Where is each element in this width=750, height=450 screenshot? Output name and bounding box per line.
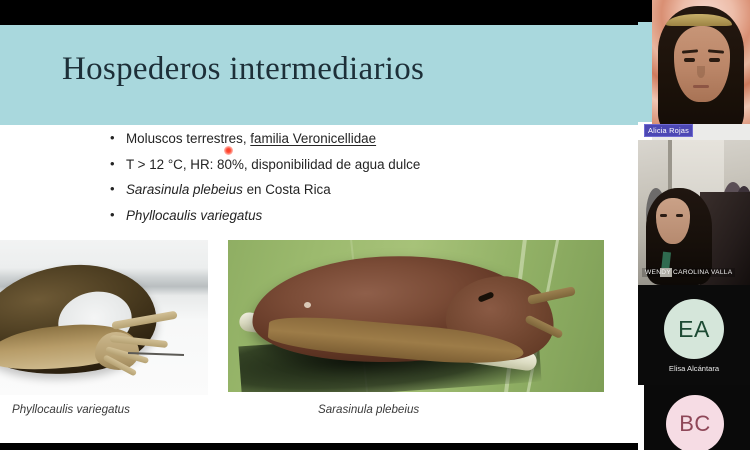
bullet-item-4: Phyllocaulis variegatus (110, 208, 580, 223)
slide-bullet-list: Moluscos terrestres, familia Veronicelli… (110, 131, 580, 233)
photo-right-slug-spot (304, 302, 311, 308)
alicia-eye-left (684, 58, 695, 62)
letterbox-bottom (0, 443, 638, 450)
alicia-eye-right (709, 58, 720, 62)
participant-tile-bc[interactable]: BC (638, 385, 750, 450)
bullet-3-text: en Costa Rica (243, 182, 331, 197)
slide-title-band: Hospederos intermediarios (0, 25, 638, 125)
avatar: EA (664, 299, 724, 359)
rail-left-white-strip (638, 385, 644, 450)
participant-name-badge-alicia: Alicia Rojas (644, 124, 693, 137)
avatar: BC (666, 395, 724, 450)
bullet-1-underlined: familia Veronicellidae (250, 131, 376, 146)
photo-right-caption: Sarasinula plebeius (318, 403, 419, 416)
laser-pointer-dot (224, 146, 233, 155)
alicia-nose (697, 66, 705, 78)
participant-name-label-elisa: Elisa Alcántara (638, 364, 750, 373)
page-title: Hospederos intermediarios (62, 51, 424, 88)
participant-tile-alicia-rojas[interactable]: Alicia Rojas (638, 0, 750, 140)
participant-tile-elisa-alcantara[interactable]: EA Elisa Alcántara (638, 285, 750, 385)
presentation-slide: Hospederos intermediarios Moluscos terre… (0, 25, 638, 443)
photo-sarasinula-plebeius (228, 240, 604, 392)
wendy-eye-left (660, 214, 667, 217)
bullet-1-text: Moluscos terrestres, (126, 131, 250, 146)
alicia-left-black-strip (638, 0, 652, 22)
bullet-3-species: Sarasinula plebeius (126, 182, 243, 197)
shared-slide-area: Hospederos intermediarios Moluscos terre… (0, 0, 638, 450)
bullet-4-species: Phyllocaulis variegatus (126, 208, 262, 223)
photo-phyllocaulis-variegatus (0, 240, 208, 395)
meeting-screen-share-view: Hospederos intermediarios Moluscos terre… (0, 0, 750, 450)
alicia-face (674, 26, 730, 102)
wendy-eye-right (676, 214, 683, 217)
alicia-mouth (693, 85, 709, 88)
alicia-left-teal-strip (638, 22, 652, 122)
bullet-2-text: T > 12 °C, HR: 80%, disponibilidad de ag… (126, 157, 420, 172)
photo-left-caption: Phyllocaulis variegatus (12, 403, 130, 416)
participant-tile-wendy-carolina[interactable]: WENDY CAROLINA VALLA (638, 140, 750, 285)
bullet-item-1: Moluscos terrestres, familia Veronicelli… (110, 131, 580, 146)
participant-video-rail: Alicia Rojas WENDY CAROLINA VALLA EA Eli… (638, 0, 750, 450)
bullet-item-3: Sarasinula plebeius en Costa Rica (110, 182, 580, 197)
bullet-item-2: T > 12 °C, HR: 80%, disponibilidad de ag… (110, 157, 580, 172)
letterbox-top (0, 0, 638, 25)
participant-name-badge-wendy: WENDY CAROLINA VALLA (642, 268, 735, 277)
